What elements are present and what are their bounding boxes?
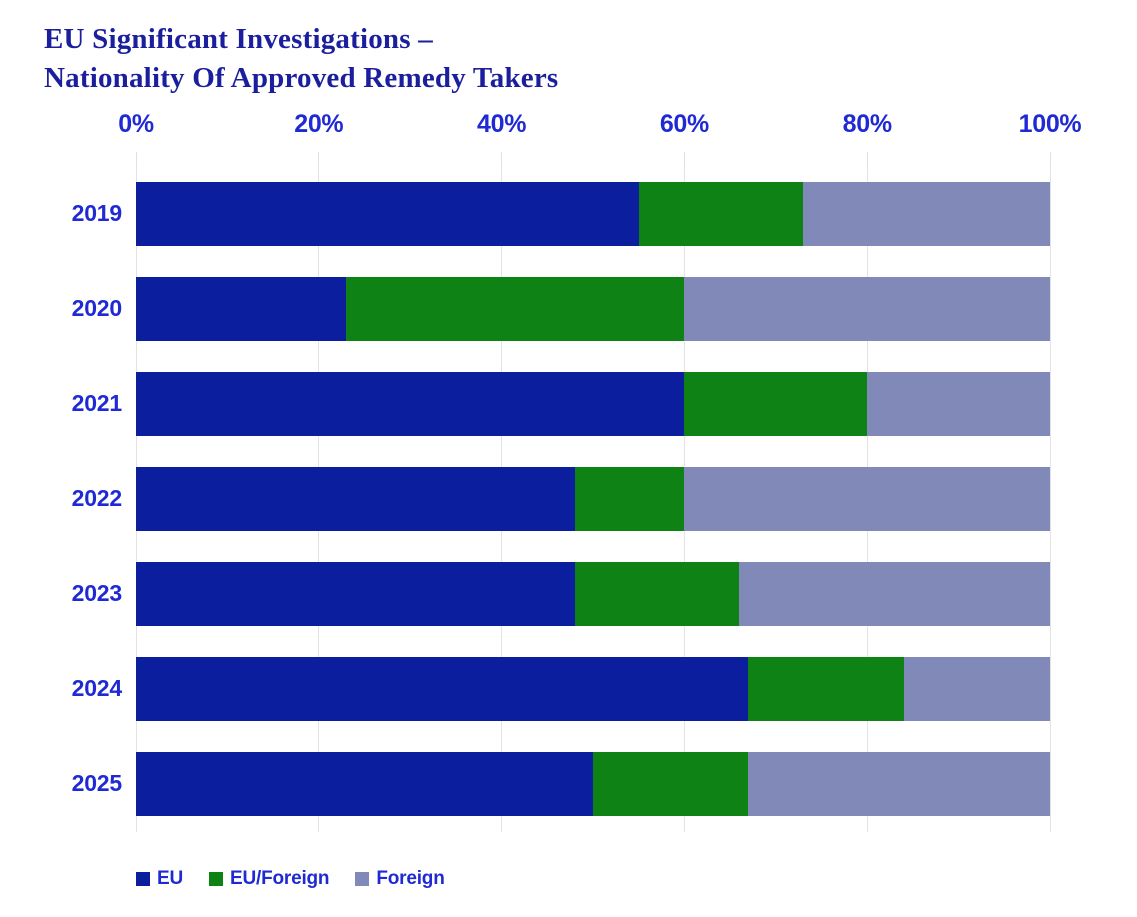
x-tick-label: 40%	[477, 110, 526, 139]
bar-segment-eu	[136, 277, 346, 341]
bar-segment-eu	[136, 182, 639, 246]
x-tick-label: 20%	[294, 110, 343, 139]
bar-segment-foreign	[684, 277, 1050, 341]
bar-segment-eu	[136, 752, 593, 816]
y-axis-label-2024: 2024	[44, 675, 122, 702]
legend-item-foreign[interactable]: Foreign	[355, 868, 444, 890]
x-tick-mark	[136, 152, 137, 166]
chart-title: EU Significant Investigations – National…	[44, 20, 844, 97]
x-tick-label: 100%	[1019, 110, 1082, 139]
legend-item-eu-foreign[interactable]: EU/Foreign	[209, 868, 329, 890]
bar-segment-foreign	[739, 562, 1050, 626]
legend-swatch-icon	[209, 872, 223, 886]
plot-area	[136, 166, 1050, 832]
bar-row	[136, 752, 1050, 816]
x-tick-label: 60%	[660, 110, 709, 139]
y-axis-label-2020: 2020	[44, 295, 122, 322]
legend-item-eu[interactable]: EU	[136, 868, 183, 890]
bar-segment-foreign	[748, 752, 1050, 816]
bar-segment-eu-foreign	[593, 752, 748, 816]
bar-segment-eu	[136, 467, 575, 531]
chart-figure: EU Significant Investigations – National…	[0, 0, 1137, 917]
legend-swatch-icon	[136, 872, 150, 886]
bar-row	[136, 467, 1050, 531]
bar-row	[136, 562, 1050, 626]
bar-row	[136, 372, 1050, 436]
x-axis-tick-labels: 0%20%40%60%80%100%	[136, 110, 1050, 144]
bar-segment-eu	[136, 562, 575, 626]
x-tick-mark	[1050, 152, 1051, 166]
bar-segment-eu	[136, 657, 748, 721]
bar-row	[136, 182, 1050, 246]
bar-segment-foreign	[867, 372, 1050, 436]
x-tick-label: 0%	[118, 110, 154, 139]
x-tick-mark	[867, 152, 868, 166]
bar-segment-foreign	[803, 182, 1050, 246]
y-axis-label-2023: 2023	[44, 580, 122, 607]
y-axis-label-2025: 2025	[44, 770, 122, 797]
bar-segment-eu-foreign	[346, 277, 684, 341]
bar-segment-eu-foreign	[639, 182, 804, 246]
bar-segment-eu-foreign	[575, 467, 685, 531]
y-axis-label-2019: 2019	[44, 200, 122, 227]
chart-legend: EUEU/ForeignForeign	[136, 868, 445, 890]
y-axis-label-2021: 2021	[44, 390, 122, 417]
bar-segment-eu-foreign	[748, 657, 903, 721]
legend-label: EU/Foreign	[230, 868, 329, 890]
bar-segment-foreign	[684, 467, 1050, 531]
bar-row	[136, 657, 1050, 721]
legend-label: Foreign	[376, 868, 444, 890]
x-tick-mark	[684, 152, 685, 166]
bar-segment-eu	[136, 372, 684, 436]
y-axis-label-2022: 2022	[44, 485, 122, 512]
bar-segment-foreign	[904, 657, 1050, 721]
legend-label: EU	[157, 868, 183, 890]
x-tick-label: 80%	[843, 110, 892, 139]
x-tick-mark	[318, 152, 319, 166]
bar-row	[136, 277, 1050, 341]
bar-segment-eu-foreign	[575, 562, 740, 626]
legend-swatch-icon	[355, 872, 369, 886]
bar-segment-eu-foreign	[684, 372, 867, 436]
x-axis-ticks	[136, 152, 1050, 166]
x-tick-mark	[501, 152, 502, 166]
